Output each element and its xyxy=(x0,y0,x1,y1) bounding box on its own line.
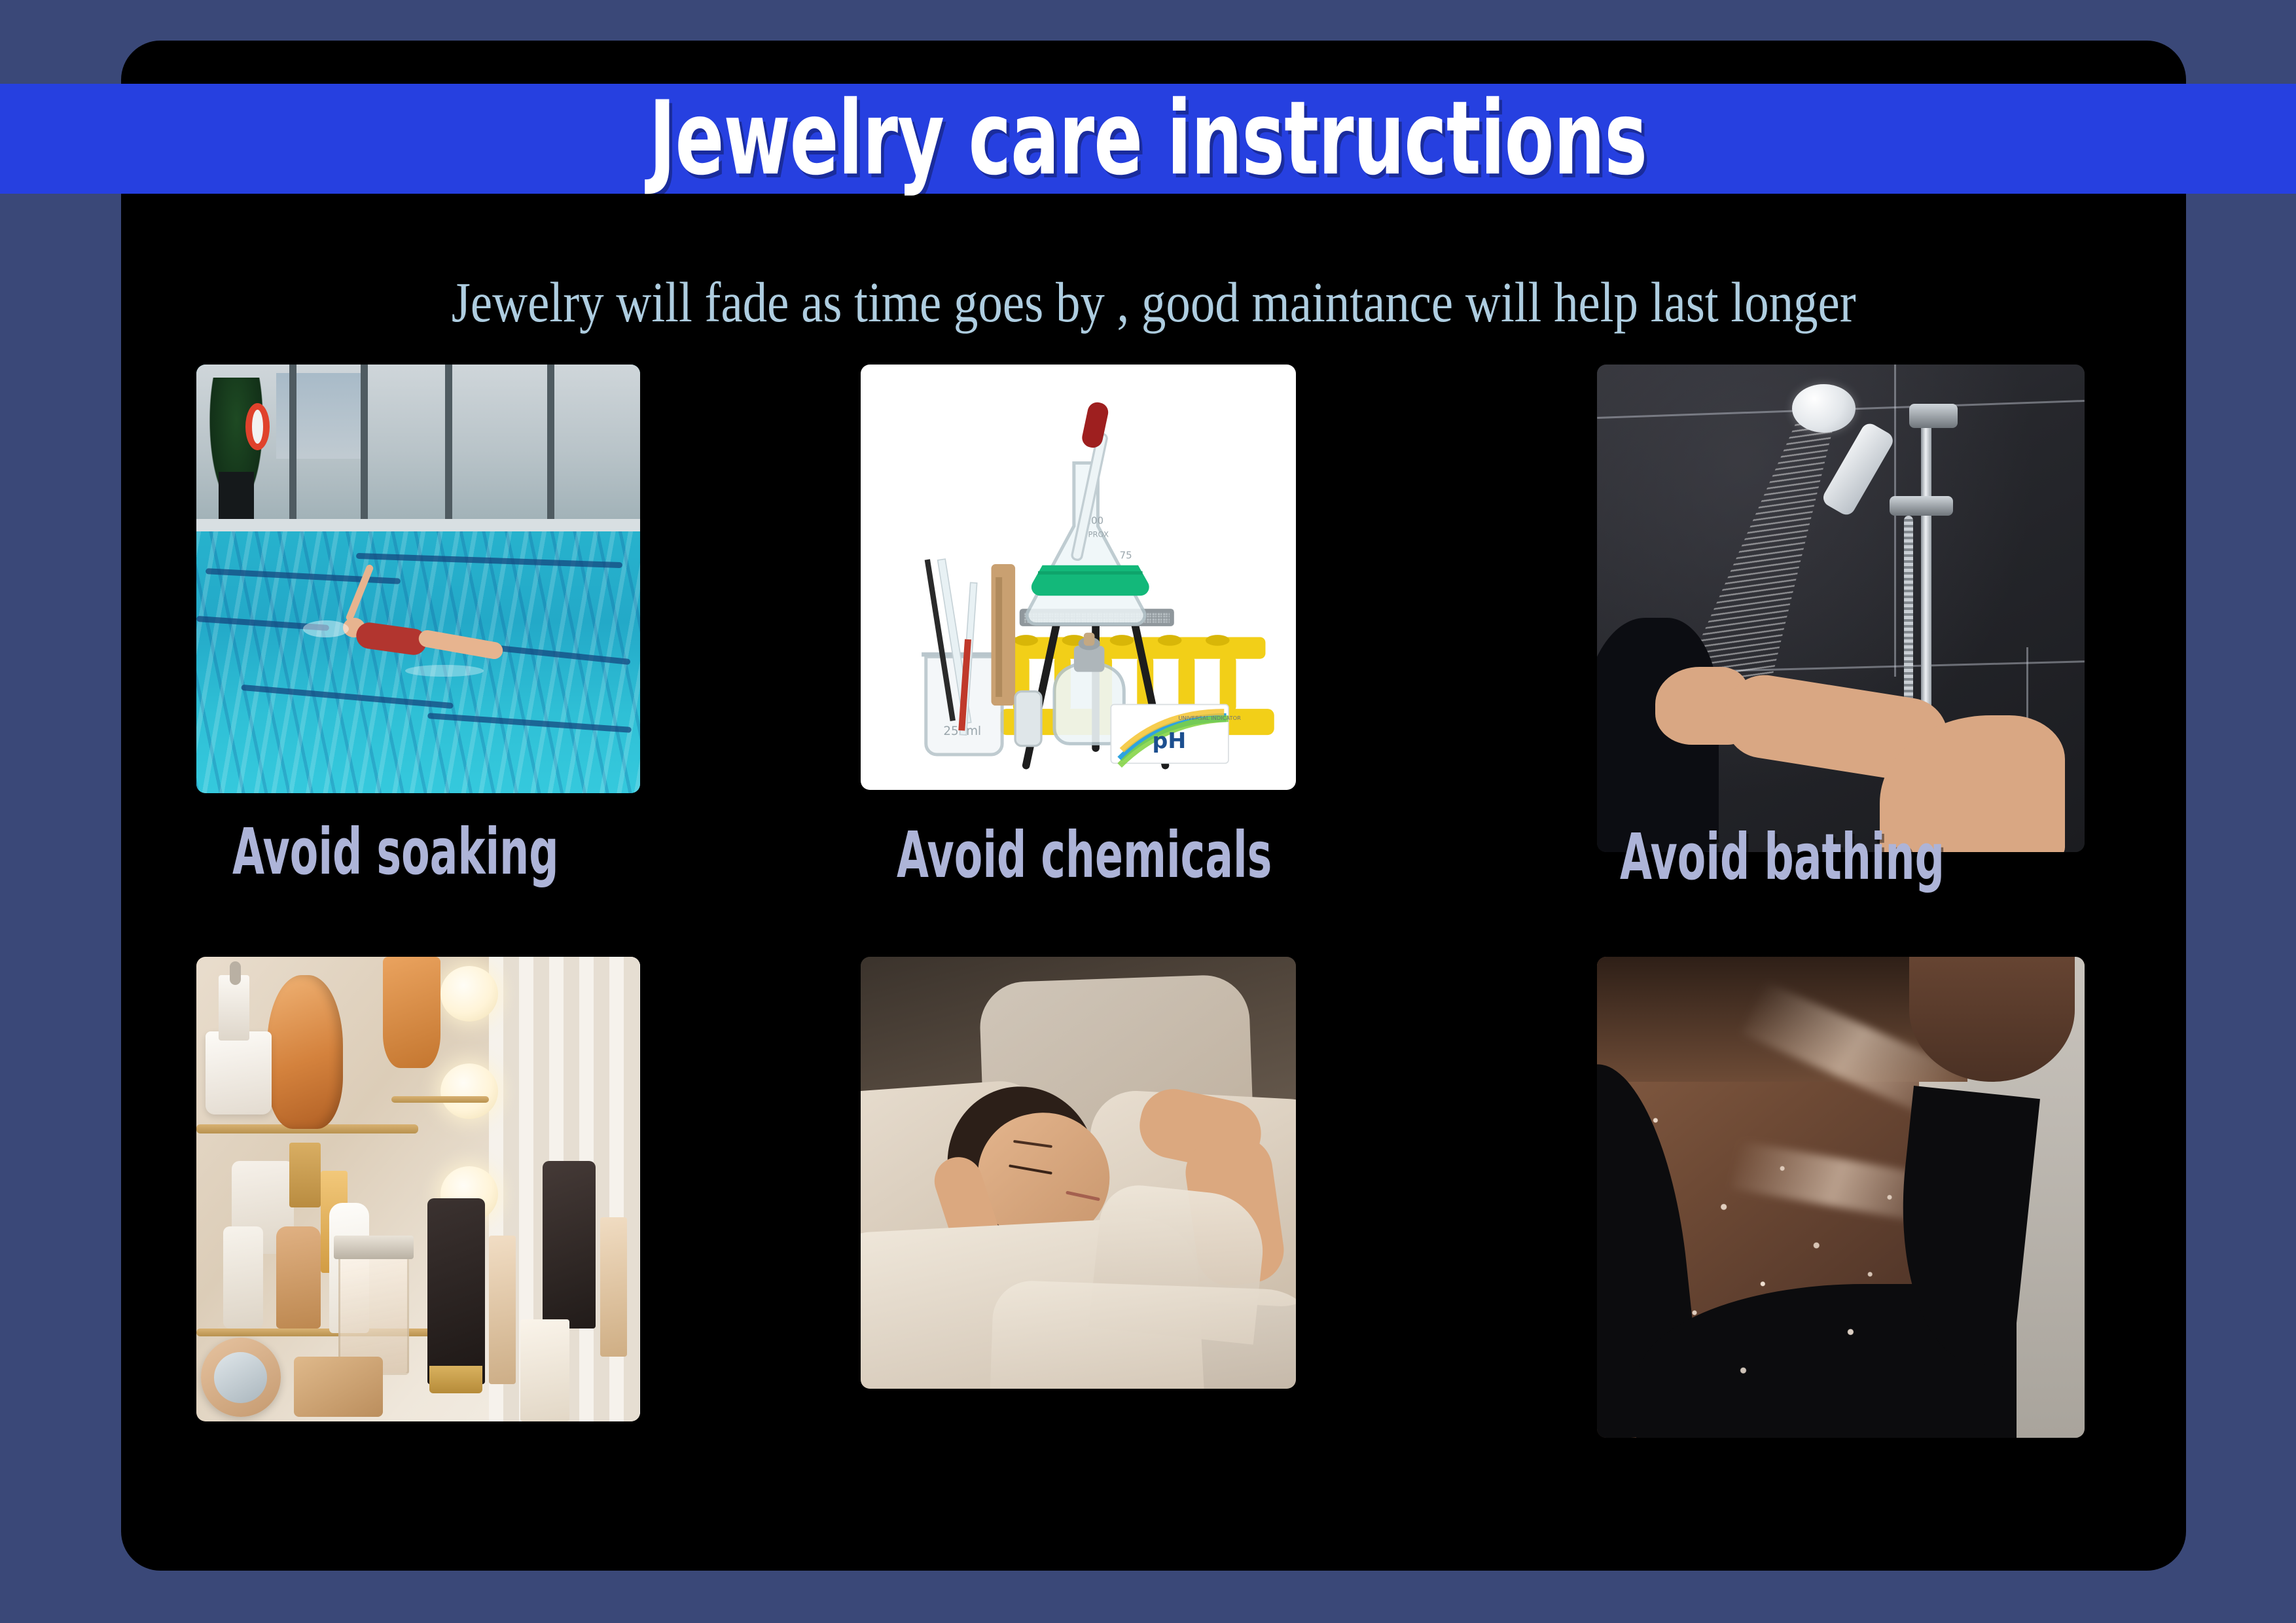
page-title: Jewelry care instructions xyxy=(649,88,1647,190)
lab-chemicals-photo: 250ml xyxy=(861,365,1296,790)
cosmetics-vanity-photo xyxy=(196,957,640,1421)
subtitle-row: Jewelry will fade as time goes by , good… xyxy=(121,266,2186,338)
poster-stage: Jewelry will fade as time goes by , good… xyxy=(0,0,2296,1623)
title-banner: Jewelry care instructions xyxy=(0,84,2296,194)
subtitle-text: Jewelry will fade as time goes by , good… xyxy=(451,274,1856,330)
poster-card: Jewelry will fade as time goes by , good… xyxy=(121,41,2186,1571)
caption-row-bathing: Avoid bathing xyxy=(1620,821,1989,893)
svg-text:pH: pH xyxy=(1153,728,1187,753)
caption-label: Avoid soaking xyxy=(232,820,559,884)
caption-label: Avoid chemicals xyxy=(897,823,1272,887)
shower-photo xyxy=(1597,365,2085,852)
caption-row-chemicals: Avoid chemicals xyxy=(897,819,1323,891)
svg-text:75: 75 xyxy=(1120,550,1132,562)
swimming-pool-photo xyxy=(196,365,640,793)
lab-equipment-illustration: 250ml xyxy=(861,365,1296,790)
sweating-skin-photo xyxy=(1597,957,2085,1438)
svg-text:UNIVERSAL INDICATOR: UNIVERSAL INDICATOR xyxy=(1178,715,1241,721)
care-grid: Avoid soaking xyxy=(121,348,2186,1565)
caption-row-soaking: Avoid soaking xyxy=(232,816,603,888)
sleeping-woman-photo xyxy=(861,957,1296,1389)
caption-label: Avoid bathing xyxy=(1620,825,1945,889)
